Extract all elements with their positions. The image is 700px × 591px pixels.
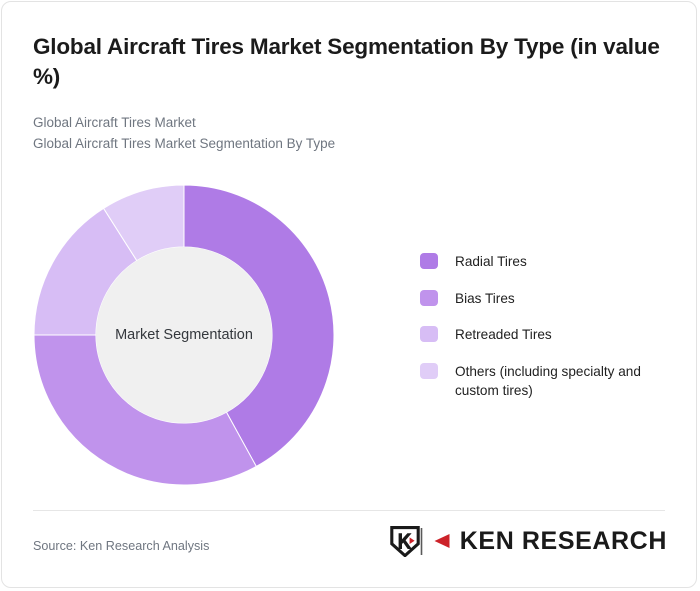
legend-item-label: Retreaded Tires	[455, 325, 552, 345]
legend-item-label: Radial Tires	[455, 252, 527, 272]
donut-chart-svg	[34, 185, 334, 485]
legend-item-others[interactable]: Others (including specialty and custom t…	[420, 362, 675, 401]
legend-item-retreaded-tires[interactable]: Retreaded Tires	[420, 325, 675, 345]
chart-area: Market Segmentation Radial Tires Bias Ti…	[2, 2, 697, 588]
footer-divider	[33, 510, 665, 511]
ken-research-shield-k-icon	[390, 526, 420, 557]
ken-research-logo: KEN RESEARCH	[390, 524, 667, 558]
legend-swatch-icon	[420, 326, 438, 342]
logo-wordmark: KEN RESEARCH	[460, 527, 667, 556]
donut-hole	[96, 247, 272, 423]
chart-legend: Radial Tires Bias Tires Retreaded Tires …	[420, 252, 675, 418]
donut-chart: Market Segmentation	[34, 185, 334, 485]
legend-item-bias-tires[interactable]: Bias Tires	[420, 289, 675, 309]
legend-swatch-icon	[420, 290, 438, 306]
legend-swatch-icon	[420, 363, 438, 379]
source-note: Source: Ken Research Analysis	[33, 539, 209, 553]
chart-card: Global Aircraft Tires Market Segmentatio…	[1, 1, 697, 588]
legend-swatch-icon	[420, 253, 438, 269]
logo-separator-bar-icon	[420, 528, 423, 555]
logo-red-triangle-icon	[429, 528, 451, 554]
legend-item-label: Bias Tires	[455, 289, 515, 309]
legend-item-radial-tires[interactable]: Radial Tires	[420, 252, 675, 272]
legend-item-label: Others (including specialty and custom t…	[455, 362, 675, 401]
